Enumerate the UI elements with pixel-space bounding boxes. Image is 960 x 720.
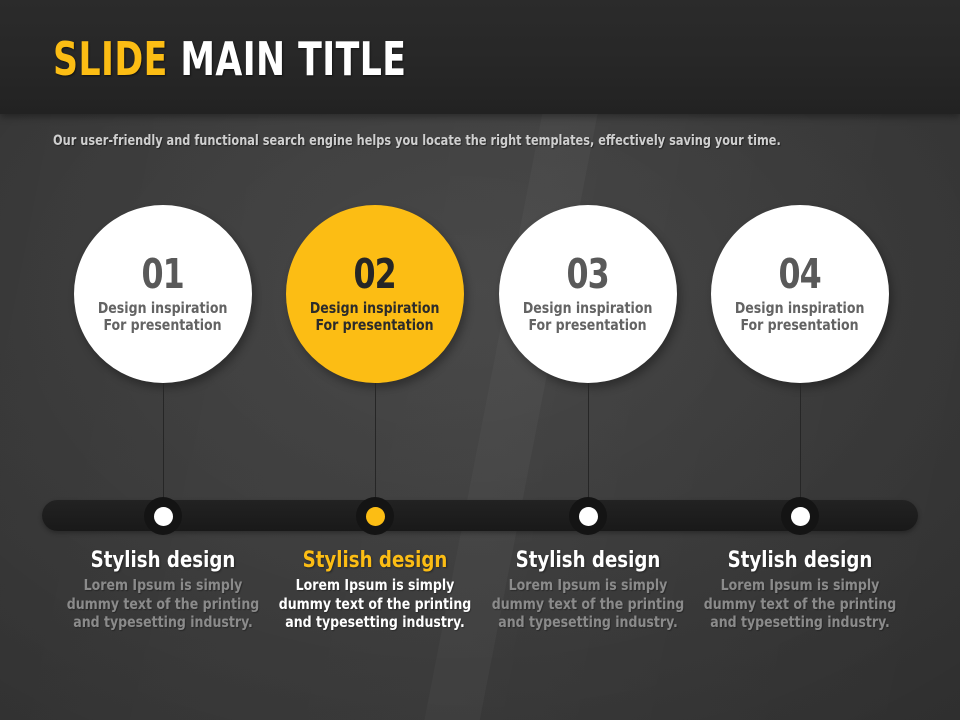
connector-line-4 [800,383,801,511]
step-circle-line1-3: Design inspiration [523,300,653,317]
step-circle-3[interactable]: 03 Design inspiration For presentation [499,205,677,383]
timeline-marker-dot-1 [154,507,173,526]
caption-body-2: Lorem Ipsum is simply dummy text of the … [273,576,478,631]
slide-canvas: SLIDE MAIN TITLE Our user-friendly and f… [0,0,960,720]
step-number-1: 01 [142,254,184,295]
step-caption-2: Stylish design Lorem Ipsum is simply dum… [265,548,485,631]
timeline-marker-3[interactable] [569,497,607,535]
timeline-marker-1[interactable] [144,497,182,535]
step-caption-4: Stylish design Lorem Ipsum is simply dum… [690,548,910,631]
connector-line-2 [375,383,376,511]
timeline-marker-dot-2 [366,507,385,526]
step-circle-line1-1: Design inspiration [98,300,228,317]
timeline-marker-4[interactable] [781,497,819,535]
step-circle-line1-4: Design inspiration [735,300,865,317]
step-caption-3: Stylish design Lorem Ipsum is simply dum… [478,548,698,631]
step-number-4: 04 [779,254,821,295]
caption-body-1: Lorem Ipsum is simply dummy text of the … [61,576,266,631]
step-circle-2[interactable]: 02 Design inspiration For presentation [286,205,464,383]
caption-title-1: Stylish design [62,548,264,573]
connector-line-1 [163,383,164,511]
timeline-marker-2[interactable] [356,497,394,535]
step-circle-line2-4: For presentation [741,317,859,334]
step-circle-line1-2: Design inspiration [310,300,440,317]
caption-body-4: Lorem Ipsum is simply dummy text of the … [698,576,903,631]
caption-body-3: Lorem Ipsum is simply dummy text of the … [486,576,691,631]
connector-line-3 [588,383,589,511]
step-circle-line2-1: For presentation [104,317,222,334]
timeline-marker-dot-4 [791,507,810,526]
caption-title-2: Stylish design [274,548,476,573]
step-circle-line2-3: For presentation [529,317,647,334]
timeline-marker-dot-3 [579,507,598,526]
step-circle-4[interactable]: 04 Design inspiration For presentation [711,205,889,383]
caption-title-4: Stylish design [699,548,901,573]
step-circle-line2-2: For presentation [316,317,434,334]
step-caption-1: Stylish design Lorem Ipsum is simply dum… [53,548,273,631]
step-circle-1[interactable]: 01 Design inspiration For presentation [74,205,252,383]
caption-title-3: Stylish design [487,548,689,573]
step-number-3: 03 [567,254,609,295]
step-number-2: 02 [354,254,396,295]
